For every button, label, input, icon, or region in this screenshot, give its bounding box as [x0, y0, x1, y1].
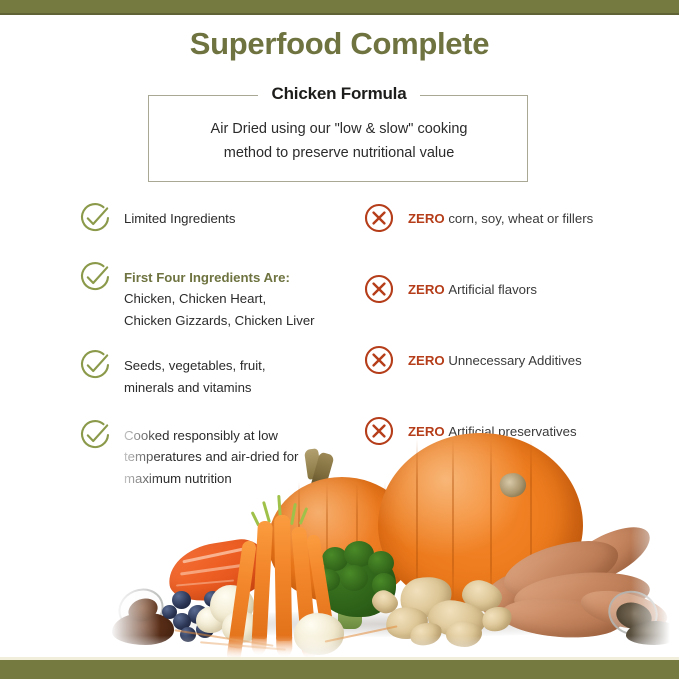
broccoli-floret — [368, 551, 394, 575]
zero-label: ZERO — [408, 211, 445, 226]
top-accent-bar — [0, 0, 679, 13]
formula-legend-text: Chicken Formula — [258, 84, 421, 103]
x-circle-icon — [362, 343, 396, 377]
formula-legend: Chicken Formula — [149, 84, 529, 104]
x-circle-icon — [362, 272, 396, 306]
benefit-text: Seeds, vegetables, fruit, minerals and v… — [112, 352, 358, 398]
exclusion-text: ZERO Artificial flavors — [396, 276, 662, 300]
blueberry — [172, 591, 191, 609]
cauliflower-floret — [294, 613, 344, 655]
page-title: Superfood Complete — [0, 26, 679, 62]
exclusion-item: ZERO Unnecessary Additives — [362, 347, 662, 377]
exclusion-detail: Artificial flavors — [448, 282, 537, 297]
benefit-line: minerals and vitamins — [124, 377, 358, 398]
benefit-line: Seeds, vegetables, fruit, — [124, 355, 358, 376]
check-circle-icon — [78, 418, 112, 452]
zero-label: ZERO — [408, 353, 445, 368]
benefit-line: Limited Ingredients — [124, 208, 358, 229]
formula-callout-box: Chicken Formula Air Dried using our "low… — [148, 95, 528, 182]
benefit-item: Limited Ingredients — [78, 205, 358, 235]
check-circle-icon — [78, 348, 112, 382]
benefit-text: Limited Ingredients — [112, 205, 358, 229]
exclusion-detail: Unnecessary Additives — [448, 353, 581, 368]
benefit-text: First Four Ingredients Are: Chicken, Chi… — [112, 264, 358, 331]
ginger-root — [446, 621, 482, 647]
broccoli-floret — [340, 565, 368, 591]
benefit-item: Seeds, vegetables, fruit, minerals and v… — [78, 352, 358, 398]
formula-line-2: method to preserve nutritional value — [149, 142, 529, 166]
exclusion-detail: corn, soy, wheat or fillers — [448, 211, 593, 226]
blueberry — [180, 627, 196, 642]
exclusions-column: ZERO corn, soy, wheat or fillers ZERO Ar… — [362, 205, 662, 448]
formula-description: Air Dried using our "low & slow" cooking… — [149, 118, 529, 166]
exclusion-item: ZERO Artificial flavors — [362, 276, 662, 306]
check-circle-icon — [78, 260, 112, 294]
carrot-top — [262, 501, 271, 523]
zero-label: ZERO — [408, 282, 445, 297]
exclusion-text: ZERO Unnecessary Additives — [396, 347, 662, 371]
exclusion-text: ZERO corn, soy, wheat or fillers — [396, 205, 662, 229]
superfood-photo — [110, 415, 670, 660]
benefit-item: First Four Ingredients Are: Chicken, Chi… — [78, 264, 358, 331]
carrot — [274, 515, 292, 641]
benefit-line: Chicken, Chicken Heart, — [124, 288, 358, 309]
formula-line-1: Air Dried using our "low & slow" cooking — [149, 118, 529, 142]
top-accent-rule — [0, 13, 679, 15]
benefit-line: Chicken Gizzards, Chicken Liver — [124, 310, 358, 331]
check-circle-icon — [78, 201, 112, 235]
x-circle-icon — [362, 201, 396, 235]
pumpkin-rib — [452, 439, 454, 607]
benefit-heading: First Four Ingredients Are: — [124, 267, 358, 288]
product-infographic: Superfood Complete Chicken Formula Air D… — [0, 0, 679, 679]
exclusion-item: ZERO corn, soy, wheat or fillers — [362, 205, 662, 235]
bottom-accent-bar — [0, 660, 679, 679]
pumpkin-rib — [490, 439, 492, 607]
